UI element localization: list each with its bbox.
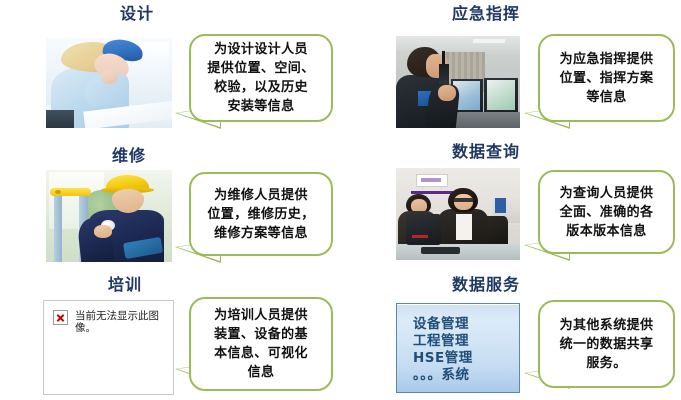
bubble-emergency: 为应急指挥提供 位置、指挥方案 等信息: [538, 34, 675, 122]
bubble-text-data-query: 为查询人员提供 全面、准确的各 版本版本信息: [554, 184, 660, 241]
service-line-equipment: 设备管理: [413, 316, 519, 333]
broken-image-message: 当前无法显示此图像。: [75, 310, 161, 334]
section-title-design: 设计: [120, 4, 154, 23]
photo-emergency: [396, 36, 520, 128]
photo-design: [46, 38, 172, 128]
bubble-maintenance: 为维修人员提供 位置，维修历史， 维修方案等信息: [189, 172, 333, 256]
photo-data-query: [396, 168, 520, 260]
broken-image-placeholder-training: 当前无法显示此图像。: [43, 300, 174, 395]
bubble-text-emergency: 为应急指挥提供 位置、指挥方案 等信息: [554, 50, 660, 107]
bubble-text-maintenance: 为维修人员提供 位置，维修历史， 维修方案等信息: [201, 186, 320, 243]
broken-image-row: 当前无法显示此图像。: [53, 310, 161, 334]
photo-maintenance: [46, 170, 172, 262]
service-line-engineering: 工程管理: [413, 333, 519, 350]
bubble-design: 为设计设计人员 提供位置、空间、 校验，以及历史 安装等信息: [189, 34, 333, 122]
bubble-text-data-service: 为其他系统提供 统一的数据共享 服务。: [554, 316, 660, 373]
section-title-data-query: 数据查询: [452, 142, 520, 161]
service-box-data-service: 设备管理 工程管理 HSE管理 。。。系统: [396, 303, 520, 393]
bubble-data-query: 为查询人员提供 全面、准确的各 版本版本信息: [538, 170, 675, 254]
slide-canvas: 设计 为设计设计人员 提供位置、空间、 校验，以及历史 安装等信息 应急指挥: [0, 0, 681, 400]
service-line-hse: HSE管理: [413, 350, 519, 367]
section-title-emergency: 应急指挥: [452, 4, 520, 23]
bubble-text-training: 为培训人员提供 装置、设备的基 本信息、可视化 信息: [208, 306, 314, 382]
service-line-others: 。。。系统: [413, 367, 519, 384]
section-title-data-service: 数据服务: [452, 275, 520, 294]
bubble-text-design: 为设计设计人员 提供位置、空间、 校验，以及历史 安装等信息: [201, 40, 320, 116]
bubble-training: 为培训人员提供 装置、设备的基 本信息、可视化 信息: [189, 297, 333, 391]
broken-image-icon: [53, 310, 68, 325]
section-title-training: 培训: [108, 275, 142, 294]
bubble-data-service: 为其他系统提供 统一的数据共享 服务。: [538, 300, 675, 388]
section-title-maintenance: 维修: [112, 146, 146, 165]
